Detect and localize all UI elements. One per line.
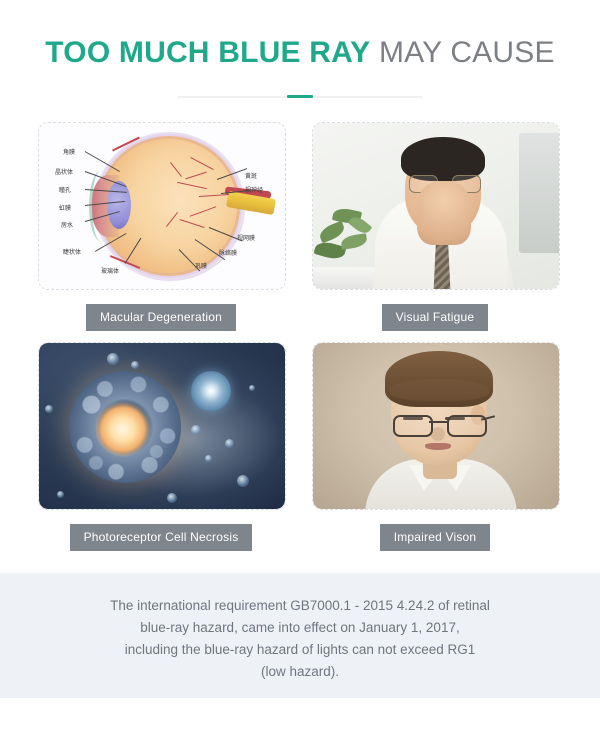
standards-line-1: The international requirement GB7000.1 -… (0, 595, 600, 617)
eye-label-iris: 虹膜 (59, 203, 71, 212)
eye-label-ciliary-body: 睫状体 (63, 247, 81, 256)
eye-label-choroid: 脉络膜 (219, 248, 237, 257)
eye-anatomy-image: 角膜 晶状体 瞳孔 虹膜 房水 睫状体 玻璃体 黄斑 视神经 视网膜 脉络膜 巩… (38, 122, 286, 290)
panel-macular-degeneration: 角膜 晶状体 瞳孔 虹膜 房水 睫状体 玻璃体 黄斑 视神经 视网膜 脉络膜 巩… (38, 122, 286, 331)
visual-fatigue-image (312, 122, 560, 290)
eye-label-retina: 视网膜 (237, 233, 255, 242)
standards-banner: The international requirement GB7000.1 -… (0, 573, 600, 698)
caption-impaired-vison: Impaired Vison (380, 524, 491, 551)
eye-label-sclera: 巩膜 (195, 261, 207, 270)
photoreceptor-cell-image (38, 342, 286, 510)
standards-banner-text: The international requirement GB7000.1 -… (0, 595, 600, 683)
page-title-rest: MAY CAUSE (370, 36, 554, 69)
page-header: TOO MUCH BLUE RAY MAY CAUSE (0, 0, 600, 118)
title-divider (178, 96, 422, 98)
panel-visual-fatigue: Visual Fatigue (312, 122, 560, 331)
page-title-highlight: TOO MUCH BLUE RAY (45, 36, 370, 69)
eye-label-cornea: 角膜 (63, 147, 75, 156)
standards-line-4: (low hazard). (0, 661, 600, 683)
standards-line-3: including the blue-ray hazard of lights … (0, 639, 600, 661)
panel-photoreceptor-cell-necrosis: Photoreceptor Cell Necrosis (38, 342, 286, 551)
caption-visual-fatigue: Visual Fatigue (382, 304, 489, 331)
cause-panel-grid: 角膜 晶状体 瞳孔 虹膜 房水 睫状体 玻璃体 黄斑 视神经 视网膜 脉络膜 巩… (0, 118, 600, 558)
caption-macular-degeneration: Macular Degeneration (86, 304, 236, 331)
caption-photoreceptor-cell-necrosis: Photoreceptor Cell Necrosis (70, 524, 253, 551)
eye-label-lens: 晶状体 (55, 167, 73, 176)
standards-line-2: blue-ray hazard, came into effect on Jan… (0, 617, 600, 639)
eye-label-macula: 黄斑 (245, 171, 257, 180)
eyeglasses-icon (393, 415, 485, 433)
eye-label-optic-nerve: 视神经 (245, 185, 263, 194)
page-title: TOO MUCH BLUE RAY MAY CAUSE (0, 36, 600, 70)
impaired-vison-image (312, 342, 560, 510)
eye-label-aqueous-humor: 房水 (61, 220, 73, 229)
panel-impaired-vison: Impaired Vison (312, 342, 560, 551)
eye-label-pupil: 瞳孔 (59, 185, 71, 194)
title-divider-accent (287, 95, 313, 98)
eye-label-vitreous-body: 玻璃体 (101, 266, 119, 275)
